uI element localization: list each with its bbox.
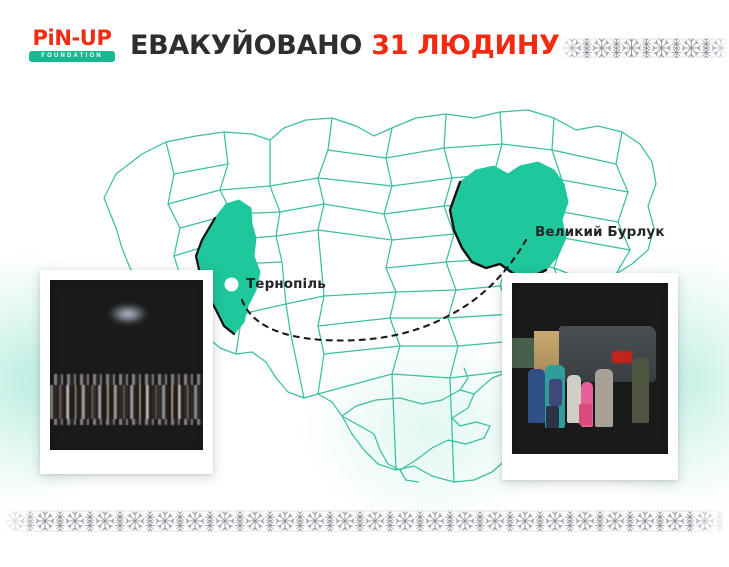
page-title-lead: ЕВАКУЙОВАНО bbox=[130, 30, 362, 61]
slide-canvas: PiN-UP FOUNDATION ЕВАКУЙОВАНО 31 ЛЮДИНУ bbox=[0, 0, 729, 567]
photo-card-group-evacuees-night[interactable] bbox=[40, 270, 213, 474]
photo-light-source bbox=[108, 304, 148, 324]
pin-up-foundation-logo[interactable]: PiN-UP FOUNDATION bbox=[26, 27, 118, 67]
embroidery-ornament-top bbox=[560, 29, 729, 67]
photo-group-evacuees-night bbox=[50, 280, 203, 450]
map-marker-dot-velykyi-burluk[interactable] bbox=[572, 255, 585, 268]
photo-bag-2 bbox=[579, 404, 591, 425]
map-label-velykyi-burluk: Великий Бурлук bbox=[535, 224, 665, 240]
photo-soldier bbox=[632, 358, 649, 423]
page-title-highlight: 31 ЛЮДИНУ bbox=[371, 30, 559, 61]
photo-boarding-truck bbox=[512, 283, 668, 454]
logo-subtitle-bar: FOUNDATION bbox=[29, 51, 115, 62]
photo-person-1 bbox=[528, 369, 545, 424]
photo-card-boarding-truck[interactable] bbox=[502, 273, 678, 480]
photo-truck-marking bbox=[612, 351, 632, 363]
photo-person-4 bbox=[595, 369, 614, 427]
embroidery-pattern-icon bbox=[560, 29, 729, 67]
page-title: ЕВАКУЙОВАНО 31 ЛЮДИНУ bbox=[130, 28, 560, 64]
photo-crowd-row-front bbox=[50, 385, 203, 419]
photo-bag-1 bbox=[546, 406, 558, 428]
map-marker-dot-ternopil[interactable] bbox=[225, 278, 238, 291]
logo-subtitle: FOUNDATION bbox=[35, 52, 109, 60]
logo-wordmark: PiN-UP bbox=[33, 27, 112, 49]
embroidery-pattern-icon bbox=[0, 504, 729, 538]
photo-backpack-1 bbox=[549, 379, 561, 406]
map-label-ternopil: Тернопіль bbox=[246, 276, 326, 292]
embroidery-ornament-bottom bbox=[0, 504, 729, 538]
